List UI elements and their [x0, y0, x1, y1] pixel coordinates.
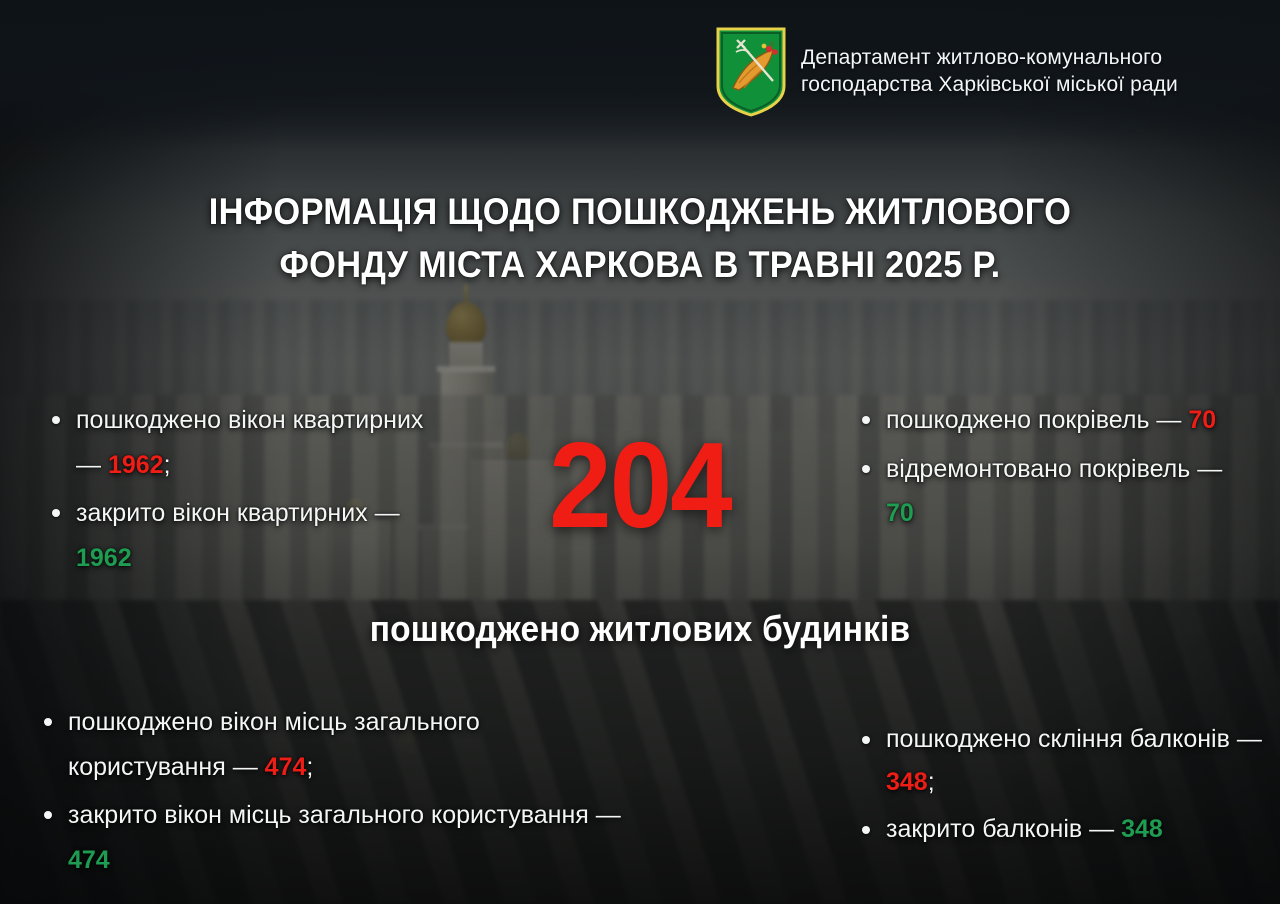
stat-value: 70 [886, 499, 914, 527]
stats-block-bottom-left: пошкоджено вікон місць загального корист… [30, 700, 640, 886]
stats-block-top-right: пошкоджено покрівель — 70відремонтовано … [848, 398, 1248, 540]
stat-value: 474 [68, 846, 110, 874]
list-item: пошкоджено покрівель — 70 [848, 398, 1248, 443]
stat-value: 1962 [108, 451, 164, 479]
stat-suffix: ; [306, 753, 313, 781]
list-item: відремонтовано покрівель — 70 [848, 447, 1248, 536]
stat-value: 70 [1188, 406, 1216, 434]
stat-label: відремонтовано покрівель — [886, 455, 1222, 483]
stats-block-bottom-right: пошкоджено скління балконів — 348;закрит… [848, 718, 1268, 855]
department-name: Департамент житлово-комунального господа… [801, 45, 1178, 99]
stat-suffix: ; [928, 768, 935, 796]
poster-content: Департамент житлово-комунального господа… [0, 0, 1280, 904]
stat-suffix: ; [164, 451, 171, 479]
stat-value: 1962 [76, 544, 132, 572]
kharkiv-coat-of-arms-icon [715, 26, 787, 118]
list-item: пошкоджено вікон квартирних — 1962; [38, 398, 438, 487]
stat-value: 348 [1121, 815, 1163, 843]
infographic-poster: Департамент житлово-комунального господа… [0, 0, 1280, 904]
list-item: пошкоджено вікон місць загального корист… [30, 700, 640, 789]
stat-label: пошкоджено скління балконів — [886, 725, 1262, 753]
list-item: закрито вікон місць загального користува… [30, 793, 640, 882]
stats-list: пошкоджено скління балконів — 348;закрит… [848, 718, 1268, 851]
page-title: ІНФОРМАЦІЯ ЩОДО ПОШКОДЖЕНЬ ЖИТЛОВОГО ФОН… [45, 186, 1235, 291]
stats-list: пошкоджено вікон квартирних — 1962;закри… [38, 398, 438, 580]
stat-label: пошкоджено покрівель — [886, 406, 1188, 434]
stats-list: пошкоджено вікон місць загального корист… [30, 700, 640, 882]
stat-label: закрито вікон квартирних — [76, 499, 400, 527]
highlight-caption: пошкоджено житлових будинків [45, 608, 1235, 650]
stat-label: закрито балконів — [886, 815, 1121, 843]
stats-list: пошкоджено покрівель — 70відремонтовано … [848, 398, 1248, 536]
stat-label: закрито вікон місць загального користува… [68, 801, 621, 829]
stat-value: 348 [886, 768, 928, 796]
list-item: закрито вікон квартирних — 1962 [38, 491, 438, 580]
list-item: пошкоджено скління балконів — 348; [848, 718, 1268, 804]
stat-value: 474 [265, 753, 307, 781]
poster-header: Департамент житлово-комунального господа… [715, 26, 1178, 118]
stats-block-top-left: пошкоджено вікон квартирних — 1962;закри… [38, 398, 438, 584]
list-item: закрито балконів — 348 [848, 808, 1268, 851]
